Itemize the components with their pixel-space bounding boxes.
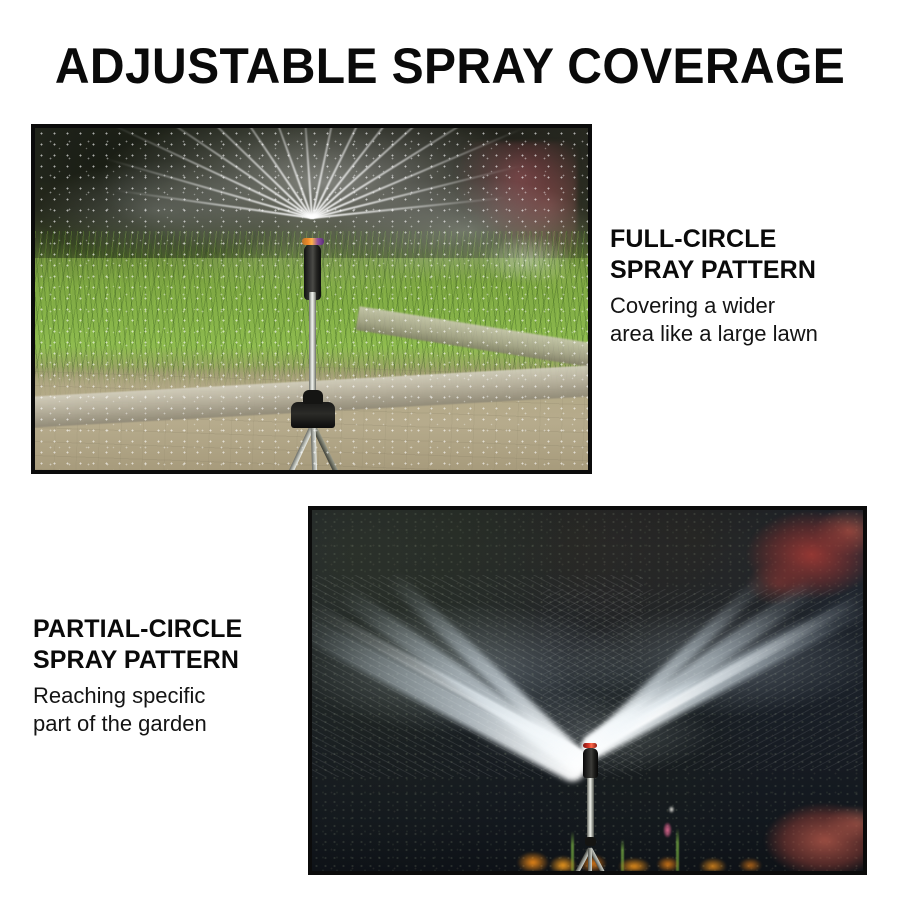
callout-partial-circle-heading-line2: SPRAY PATTERN [33, 645, 242, 676]
callout-partial-circle-heading-line1: PARTIAL-CIRCLE [33, 614, 242, 645]
partial-circle-photo-inner [312, 510, 863, 871]
callout-full-circle: FULL-CIRCLE SPRAY PATTERN Covering a wid… [610, 224, 818, 348]
sprinkler-nozzle-2 [583, 743, 597, 748]
red-shrub-bottom-right [742, 792, 863, 871]
sprinkler-nozzle [302, 238, 324, 245]
tripod-hub-cap [303, 390, 323, 404]
pink-flower [662, 820, 673, 840]
full-circle-photo [31, 124, 592, 474]
callout-full-circle-body-line2: area like a large lawn [610, 320, 818, 348]
callout-full-circle-heading-line1: FULL-CIRCLE [610, 224, 818, 255]
tripod-leg-center-2 [588, 848, 592, 871]
callout-partial-circle-body-line2: part of the garden [33, 710, 242, 738]
white-flower [667, 804, 676, 815]
sprinkler-collar-2 [585, 837, 596, 846]
callout-full-circle-heading-line2: SPRAY PATTERN [610, 255, 818, 286]
page-title: ADJUSTABLE SPRAY COVERAGE [18, 38, 882, 94]
partial-circle-photo [308, 506, 867, 875]
sprinkler-stem-2 [587, 777, 594, 842]
tripod-hub [291, 402, 335, 428]
full-circle-photo-inner [35, 128, 588, 470]
callout-partial-circle: PARTIAL-CIRCLE SPRAY PATTERN Reaching sp… [33, 614, 242, 738]
callout-full-circle-body-line1: Covering a wider [610, 292, 818, 320]
callout-partial-circle-body-line1: Reaching specific [33, 682, 242, 710]
sprinkler-head-2 [583, 748, 598, 778]
